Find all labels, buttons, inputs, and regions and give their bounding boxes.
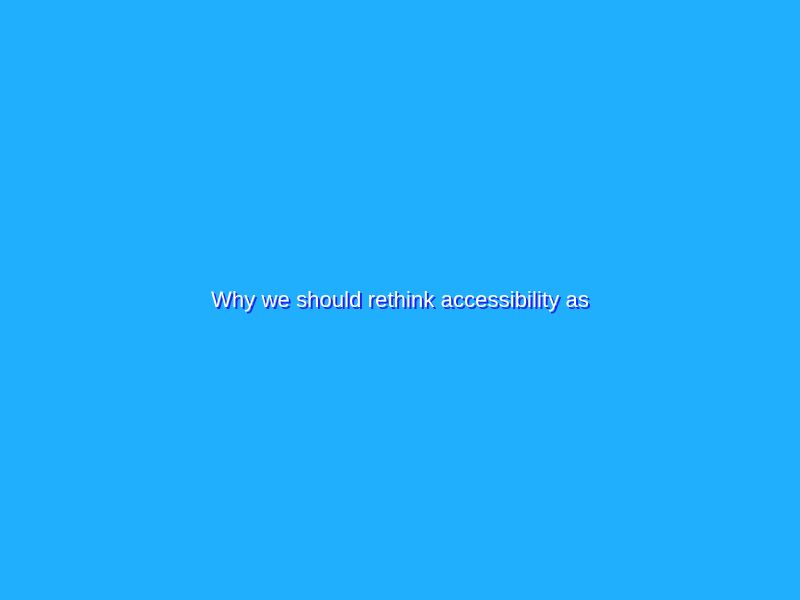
- page-title: Why we should rethink accessibility as: [211, 286, 589, 314]
- social-share-card: Why we should rethink accessibility as: [0, 0, 800, 600]
- headline-container: Why we should rethink accessibility as: [0, 286, 800, 314]
